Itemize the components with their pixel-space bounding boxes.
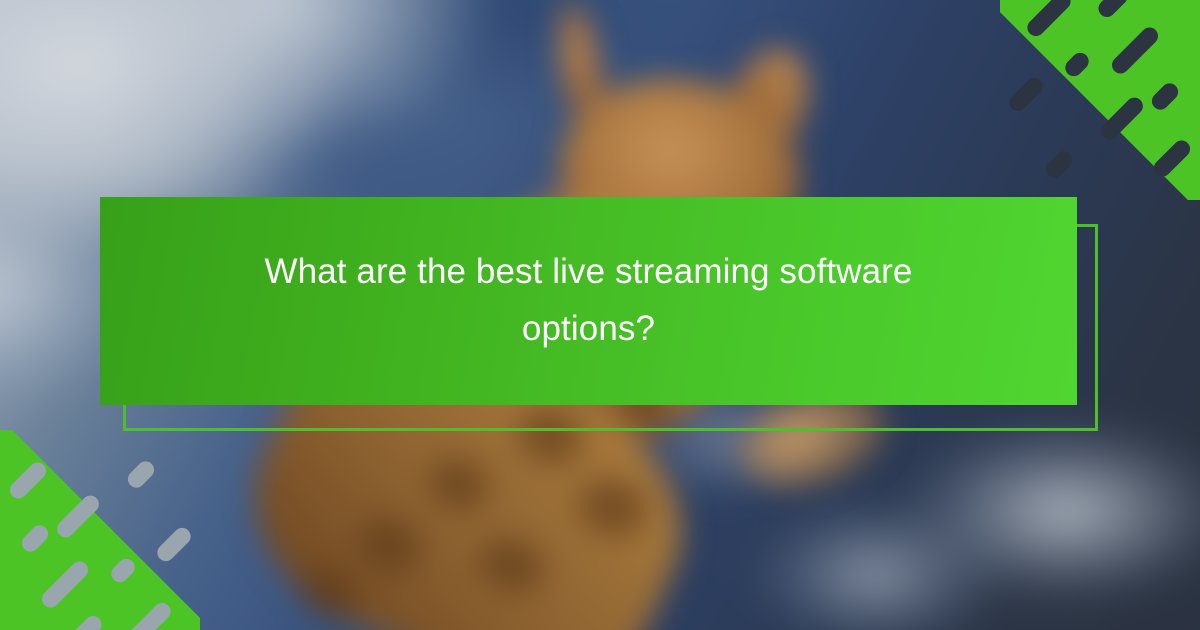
headline-text: What are the best live streaming softwar… — [209, 244, 969, 357]
banner-card: What are the best live streaming softwar… — [0, 0, 1200, 630]
headline-banner: What are the best live streaming softwar… — [100, 197, 1077, 405]
